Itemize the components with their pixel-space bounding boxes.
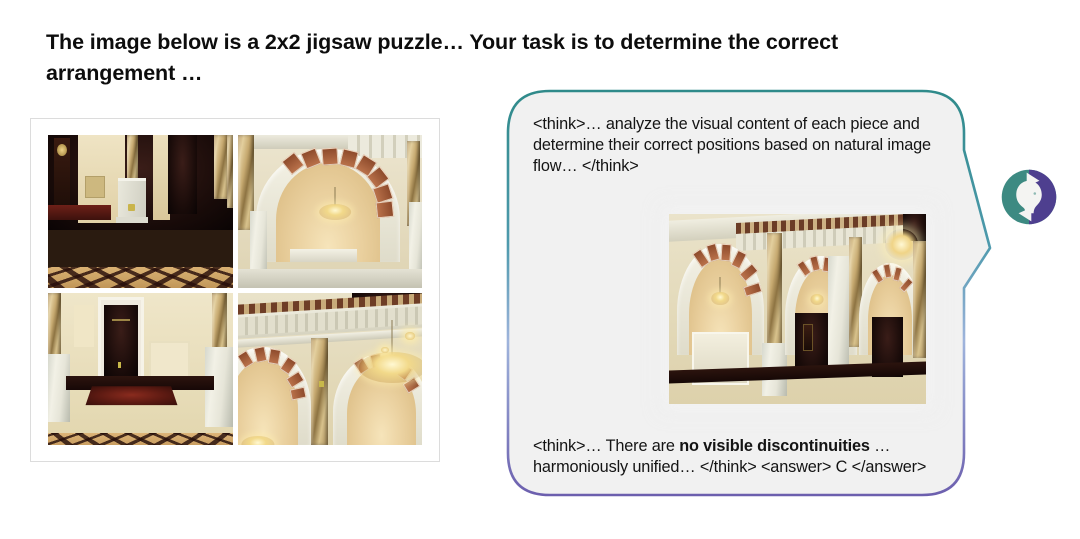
assembled-image [669,214,926,404]
puzzle-card [30,118,440,462]
pedestal [118,178,146,224]
puzzle-tile-bottom-right[interactable] [238,293,423,446]
doorway [98,297,144,382]
chandelier-icon [359,320,422,384]
figure-root: The image below is a 2x2 jigsaw puzzle… … [0,0,1080,539]
chandelier-icon [319,187,351,221]
bubble-content: <think>… analyze the visual content of e… [527,108,947,478]
think-block-bottom: <think>… There are no visible discontinu… [527,436,947,478]
puzzle-grid [48,135,422,445]
assistant-avatar [1000,168,1058,226]
page-title: The image below is a 2x2 jigsaw puzzle… … [46,27,951,88]
arch [256,149,400,262]
avatar-logo-icon [1000,168,1058,226]
assistant-speech-bubble: <think>… analyze the visual content of e… [505,88,995,500]
chandelier-icon [241,418,274,445]
think-bottom-prefix: <think>… There are [533,437,679,455]
think-block-top: <think>… analyze the visual content of e… [527,108,947,178]
carpet [85,387,177,406]
think-bottom-emphasis: no visible discontinuities [679,437,870,455]
puzzle-tile-top-left[interactable] [48,135,233,288]
puzzle-tile-bottom-left[interactable] [48,293,233,446]
puzzle-tile-top-right[interactable] [238,135,423,288]
